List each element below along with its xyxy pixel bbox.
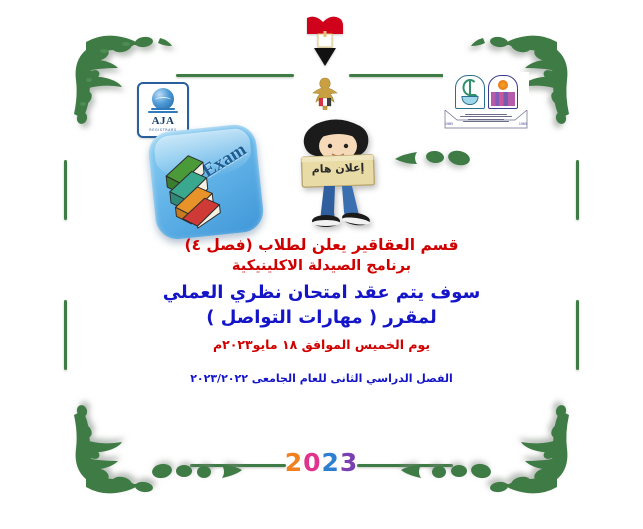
emblem-year-left: 1985 (445, 122, 453, 126)
poster-page: AJA REGISTRARS 1985 1985 Exam (0, 0, 643, 529)
pharmacy-crest-icon (455, 75, 485, 109)
egypt-flag-ribbon-icon (304, 14, 346, 72)
year-digit-3: 2 (322, 448, 340, 477)
border-rule-right-upper (576, 160, 579, 220)
boy-holding-sign: إعلان هام (286, 118, 390, 230)
aja-logo-title: AJA (152, 116, 175, 127)
university-crest-icon (488, 75, 518, 109)
emblem-crests (455, 75, 518, 109)
exam-books-icon: Exam (147, 123, 266, 242)
emblem-banner-text-lines (457, 114, 515, 122)
announcement-line-2: برنامج الصيدلة الاكلينيكية (60, 257, 583, 276)
sign-text: إعلان هام (311, 161, 364, 176)
announcement-line-3: سوف يتم عقد امتحان نظري العملي (60, 281, 583, 304)
announcement-date-line: يوم الخميس الموافق ١٨ مايو٢٠٢٣م (60, 337, 583, 353)
year-badge-2023: 2023 (0, 448, 643, 477)
egypt-eagle-emblem-icon (310, 76, 340, 110)
faculty-of-pharmacy-emblem: 1985 1985 (443, 72, 529, 130)
announcement-line-4: لمقرر ( مهارات التواصل ) (60, 306, 583, 329)
emblem-banner: 1985 1985 (443, 110, 529, 130)
globe-icon (152, 88, 174, 110)
year-digit-4: 3 (340, 448, 358, 477)
stacked-books-icon (158, 145, 240, 232)
year-digit-2: 0 (303, 448, 321, 477)
border-rule-top-left (176, 74, 294, 77)
announcement-text-block: قسم العقاقير يعلن لطلاب (فصل ٤) برنامج ا… (60, 236, 583, 387)
year-digit-1: 2 (285, 448, 303, 477)
border-rule-left-upper (64, 160, 67, 220)
announcement-line-1: قسم العقاقير يعلن لطلاب (فصل ٤) (60, 236, 583, 256)
emblem-year-right: 1985 (519, 122, 527, 126)
announcement-semester-line: الفصل الدراسي الثانى للعام الجامعى ٢٠٢٣/… (60, 372, 583, 386)
waves-icon (148, 108, 178, 115)
